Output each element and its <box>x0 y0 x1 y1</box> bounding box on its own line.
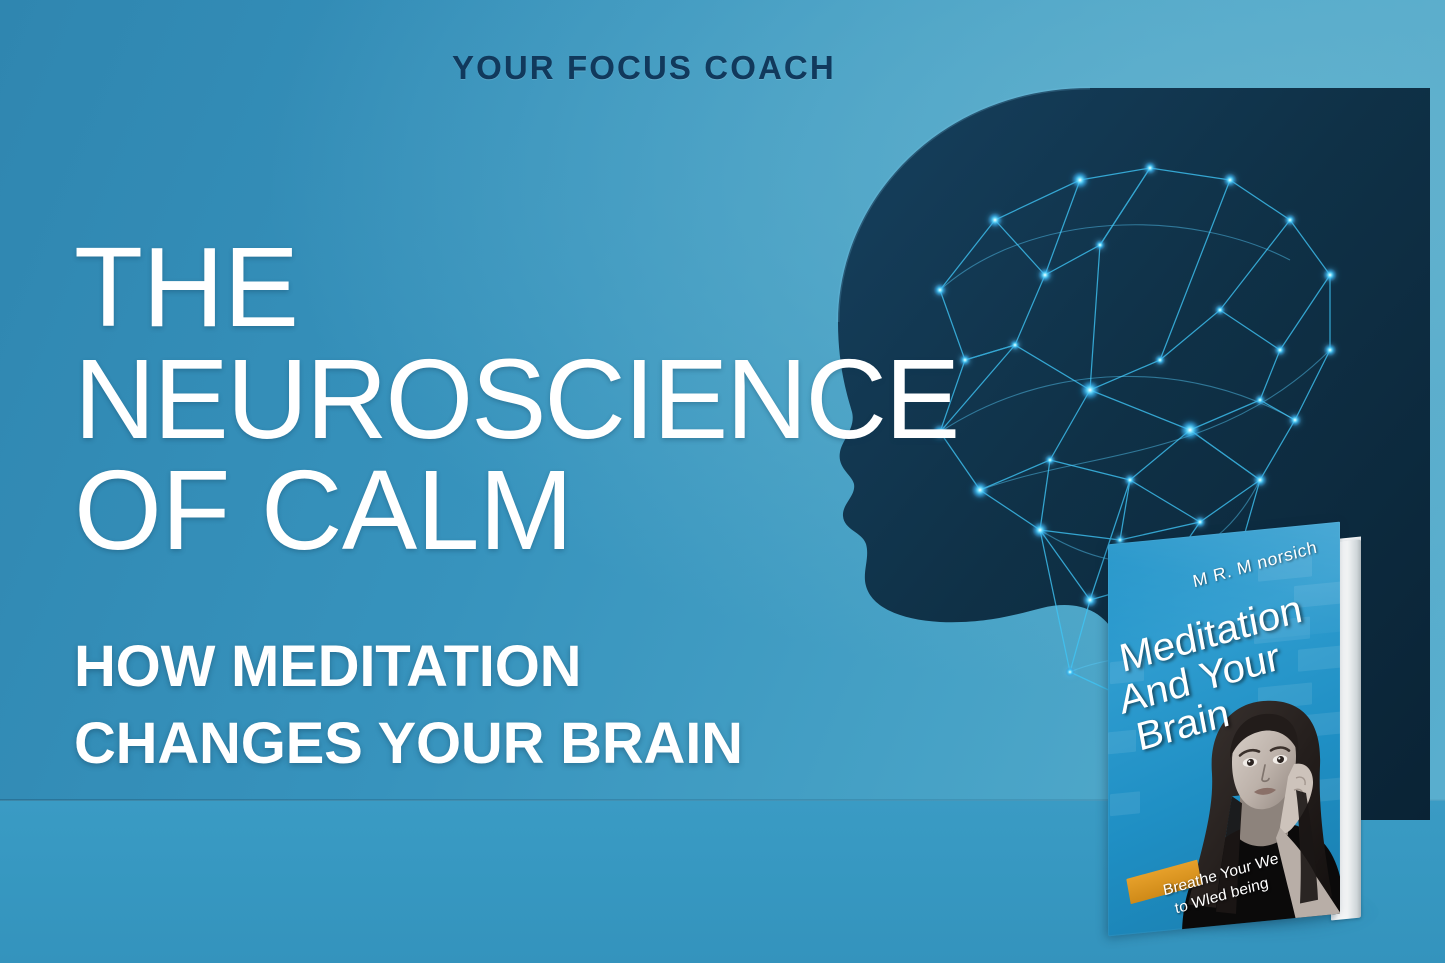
subhead-line-2: CHANGES YOUR BRAIN <box>74 705 934 782</box>
page-subtitle: HOW MEDITATION CHANGES YOUR BRAIN <box>74 628 934 782</box>
headline-line-2: NEUROSCIENCE <box>74 344 1004 456</box>
headline-line-3: OF CALM <box>74 455 1004 567</box>
eyebrow-text: YOUR FOCUS COACH <box>452 49 836 87</box>
page-title: THE NEUROSCIENCE OF CALM <box>74 232 1004 568</box>
promo-banner: YOUR FOCUS COACH THE NEUROSCIENCE OF CAL… <box>0 0 1445 963</box>
book-mockup[interactable]: M R. M norsich Meditation And Your Brain… <box>1108 533 1408 933</box>
book-front-cover: M R. M norsich Meditation And Your Brain… <box>1108 522 1340 937</box>
headline-line-1: THE <box>74 232 1004 344</box>
subhead-line-1: HOW MEDITATION <box>74 628 934 705</box>
